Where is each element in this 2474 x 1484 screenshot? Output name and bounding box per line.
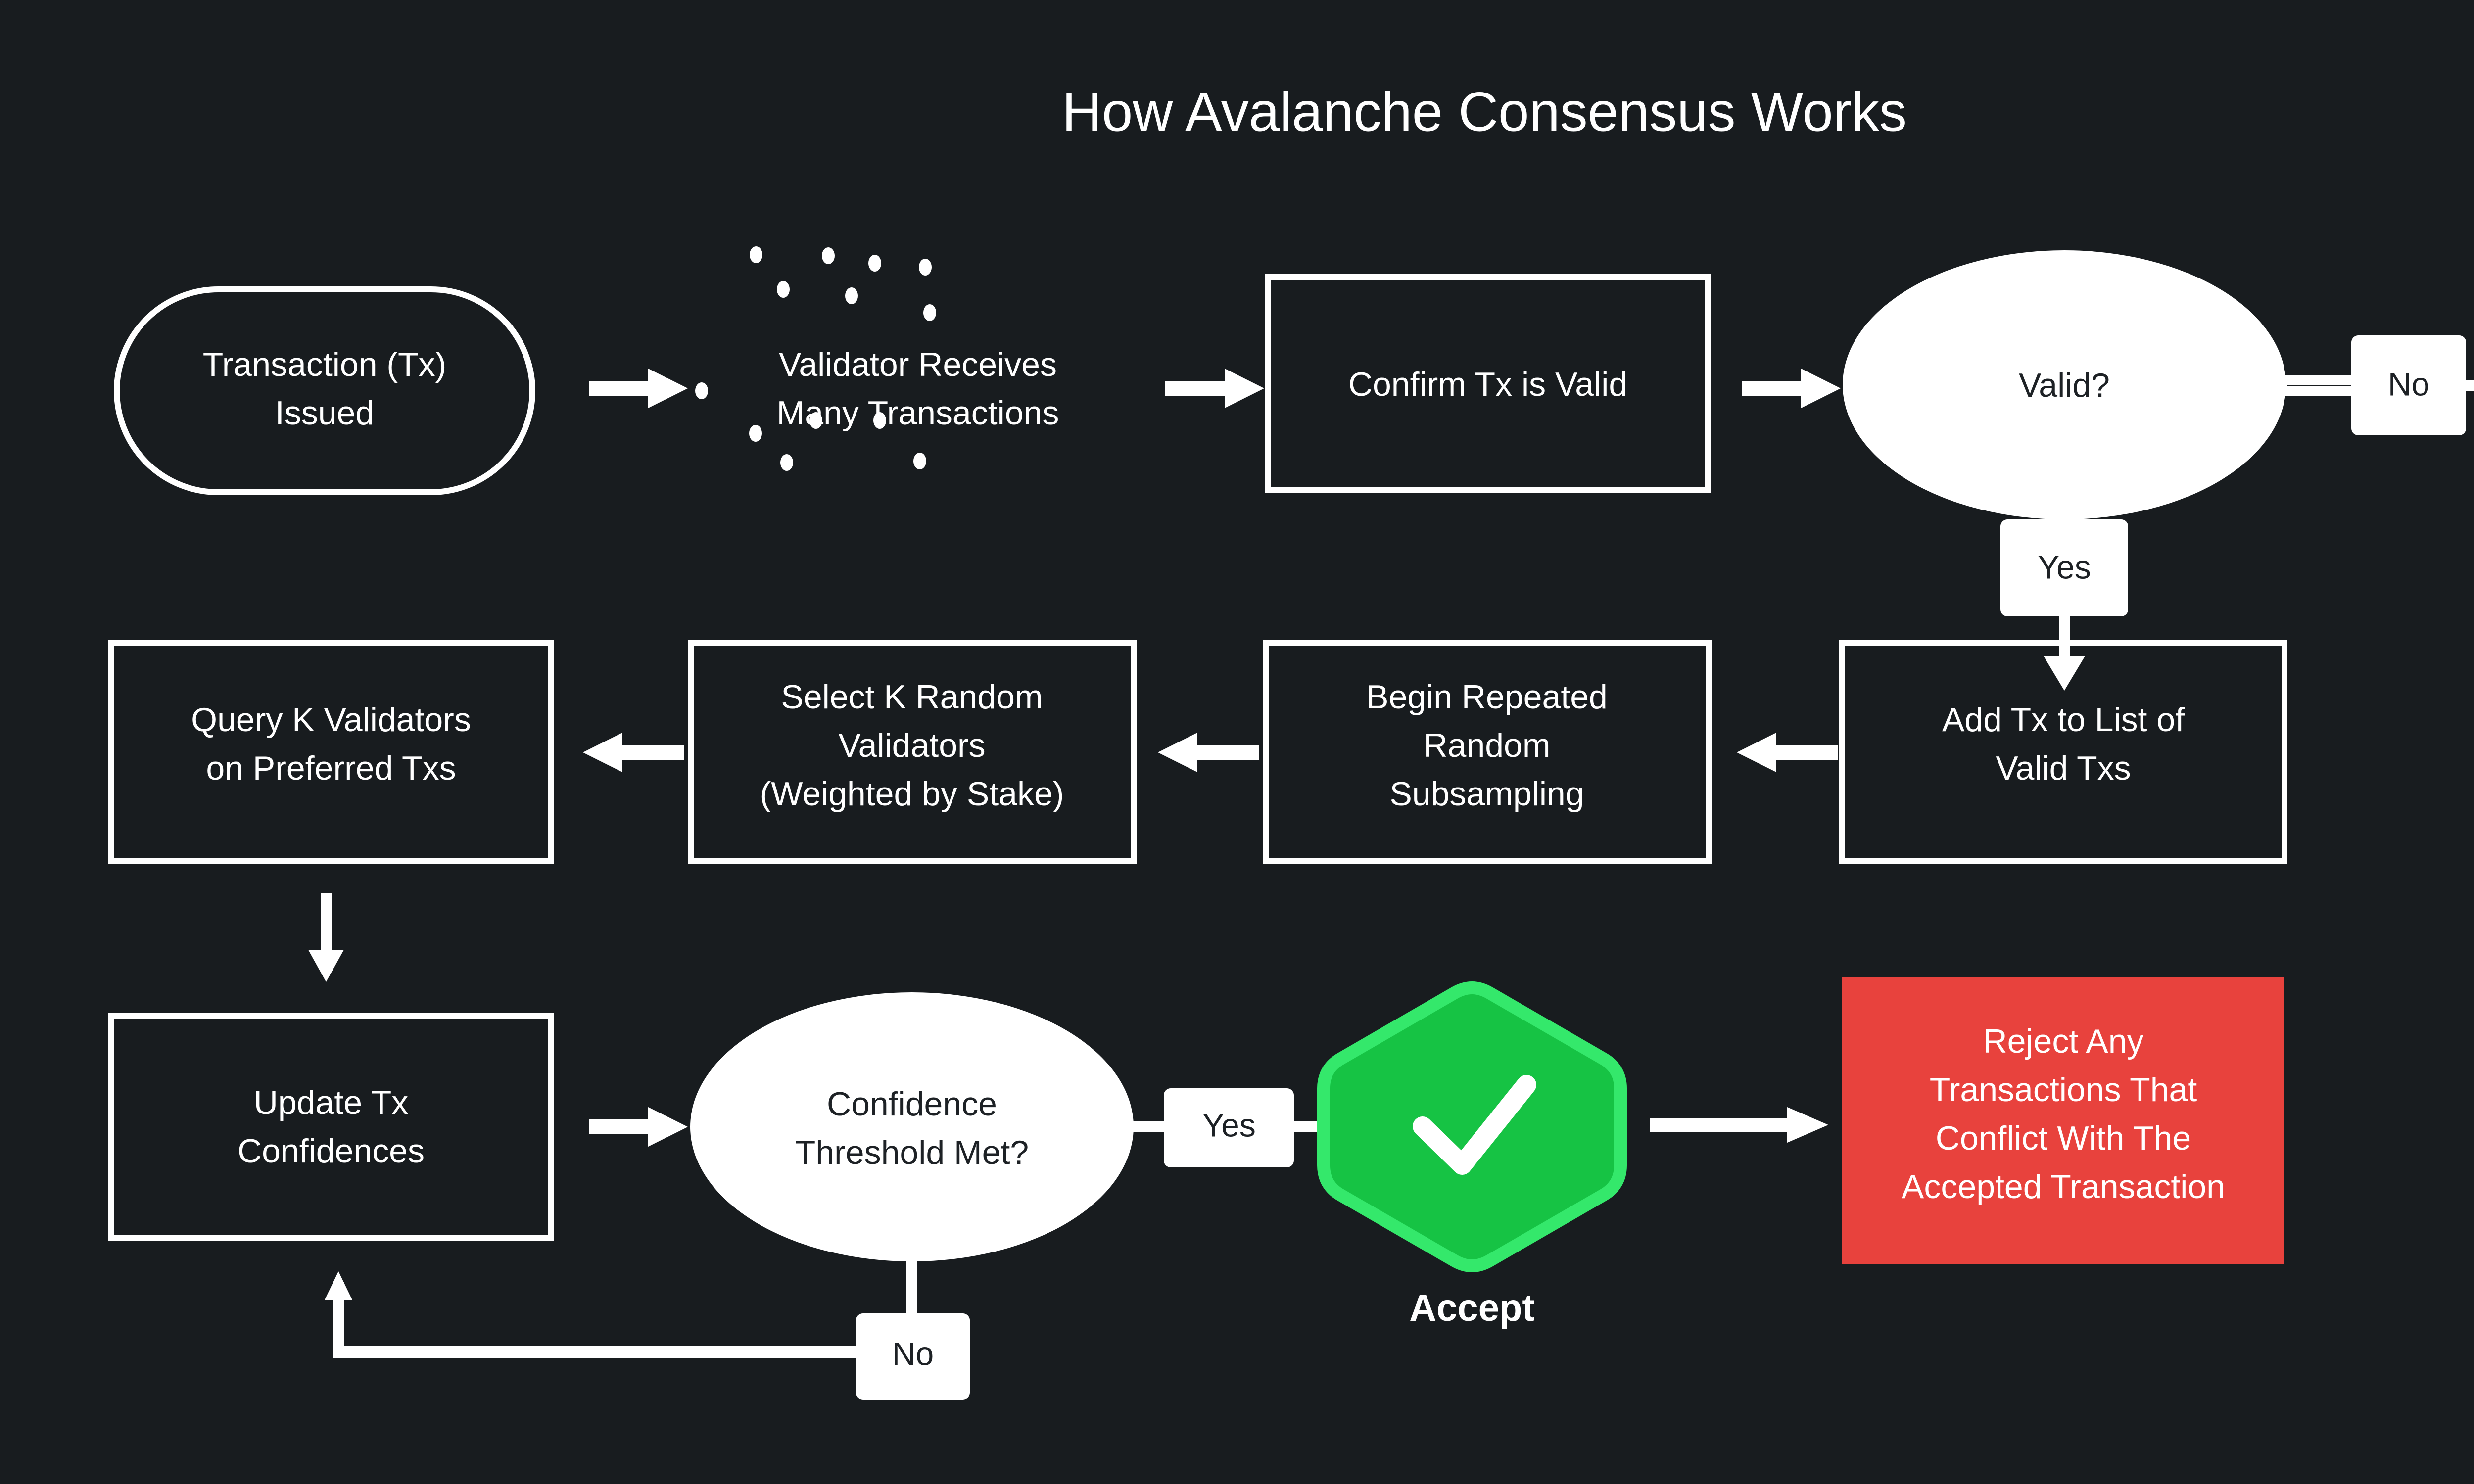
transaction-dot [777, 281, 790, 298]
transaction-dot [695, 382, 708, 399]
confidence-no-label: No [892, 1335, 934, 1372]
add-tx-valid-list-line2: Valid Txs [1996, 749, 2131, 787]
node-transaction-issued[interactable]: Transaction (Tx) Issued [117, 289, 532, 492]
reject-conflicts-line1: Reject Any [1983, 1022, 2143, 1060]
node-reject-conflicts[interactable]: Reject Any Transactions That Conflict Wi… [1842, 977, 2284, 1264]
valid-decision-label: Valid? [2019, 367, 2110, 404]
reject-conflicts-line4: Accepted Transaction [1902, 1168, 2225, 1206]
select-k-line2: Validators [838, 727, 985, 764]
transaction-dot [749, 425, 762, 442]
reject-conflicts-line3: Conflict With The [1936, 1119, 2191, 1157]
transaction-dot [780, 454, 793, 471]
query-k-line1: Query K Validators [191, 701, 471, 739]
arrow-validator-to-confirm [1165, 369, 1264, 408]
confirm-tx-valid-label: Confirm Tx is Valid [1348, 366, 1627, 403]
transaction-dot [822, 247, 835, 264]
node-accept[interactable]: Accept [1324, 988, 1620, 1329]
node-valid-decision[interactable]: Valid? [1843, 250, 2286, 519]
select-k-line3: (Weighted by Stake) [760, 775, 1064, 813]
confidence-decision-line2: Threshold Met? [795, 1134, 1029, 1171]
edge-valid-yes: Yes [2000, 514, 2128, 691]
transaction-issued-label-line2: Issued [275, 394, 374, 432]
begin-subsampling-line2: Random [1423, 727, 1550, 764]
confidence-decision-shape [690, 992, 1134, 1261]
valid-no-label: No [2388, 366, 2429, 402]
transaction-issued-label-line1: Transaction (Tx) [203, 346, 446, 383]
edge-valid-no: No [2282, 335, 2474, 435]
update-confidences-line2: Confidences [238, 1132, 425, 1170]
arrow-addtx-to-subsampling [1737, 733, 1838, 772]
transaction-dot [845, 287, 858, 304]
confidence-decision-line1: Confidence [827, 1085, 997, 1123]
query-k-line2: on Preferred Txs [206, 749, 456, 787]
update-confidences-shape [111, 1016, 551, 1238]
node-query-k-validators[interactable]: Query K Validators on Preferred Txs [111, 643, 551, 861]
diagram-canvas: How Avalanche Consensus Works Transactio… [0, 0, 2474, 1484]
begin-subsampling-line1: Begin Repeated [1366, 678, 1608, 716]
page-title: How Avalanche Consensus Works [1062, 81, 1907, 143]
validator-receives-label-line1: Validator Receives [779, 346, 1057, 383]
node-validator-receives[interactable]: Validator Receives Many Transactions [695, 246, 1059, 471]
node-begin-subsampling[interactable]: Begin Repeated Random Subsampling [1266, 643, 1709, 861]
reject-conflicts-line2: Transactions That [1930, 1071, 2197, 1109]
transaction-issued-shape [117, 289, 532, 492]
transaction-dot [750, 246, 762, 263]
node-update-confidences[interactable]: Update Tx Confidences [111, 1016, 551, 1238]
valid-yes-label: Yes [2038, 549, 2091, 585]
arrow-query-to-update [308, 893, 344, 982]
update-confidences-line1: Update Tx [254, 1084, 408, 1121]
arrow-subsampling-to-selectk [1158, 733, 1259, 772]
accept-caption: Accept [1409, 1287, 1534, 1329]
node-confirm-tx-valid[interactable]: Confirm Tx is Valid [1268, 277, 1708, 490]
validator-receives-label-line2: Many Transactions [777, 394, 1059, 432]
arrow-selectk-to-query [583, 733, 684, 772]
begin-subsampling-line3: Subsampling [1389, 775, 1584, 813]
arrow-accept-to-reject [1650, 1107, 1828, 1143]
node-select-k-validators[interactable]: Select K Random Validators (Weighted by … [691, 643, 1134, 861]
transaction-dot [913, 453, 926, 469]
node-confidence-decision[interactable]: Confidence Threshold Met? [690, 992, 1134, 1261]
transaction-dot [919, 259, 932, 276]
arrow-update-to-confidence [589, 1107, 688, 1147]
transaction-dot [868, 255, 881, 272]
edge-confidence-no-loopback: No [325, 1256, 970, 1400]
select-k-line1: Select K Random [781, 678, 1043, 716]
accept-shape [1324, 988, 1620, 1266]
transaction-dot [923, 304, 936, 321]
arrow-tx-issued-to-validator [589, 369, 688, 408]
arrow-confirm-to-valid-decision [1742, 369, 1841, 408]
confidence-yes-label: Yes [1202, 1107, 1256, 1143]
add-tx-valid-list-line1: Add Tx to List of [1942, 701, 2185, 739]
